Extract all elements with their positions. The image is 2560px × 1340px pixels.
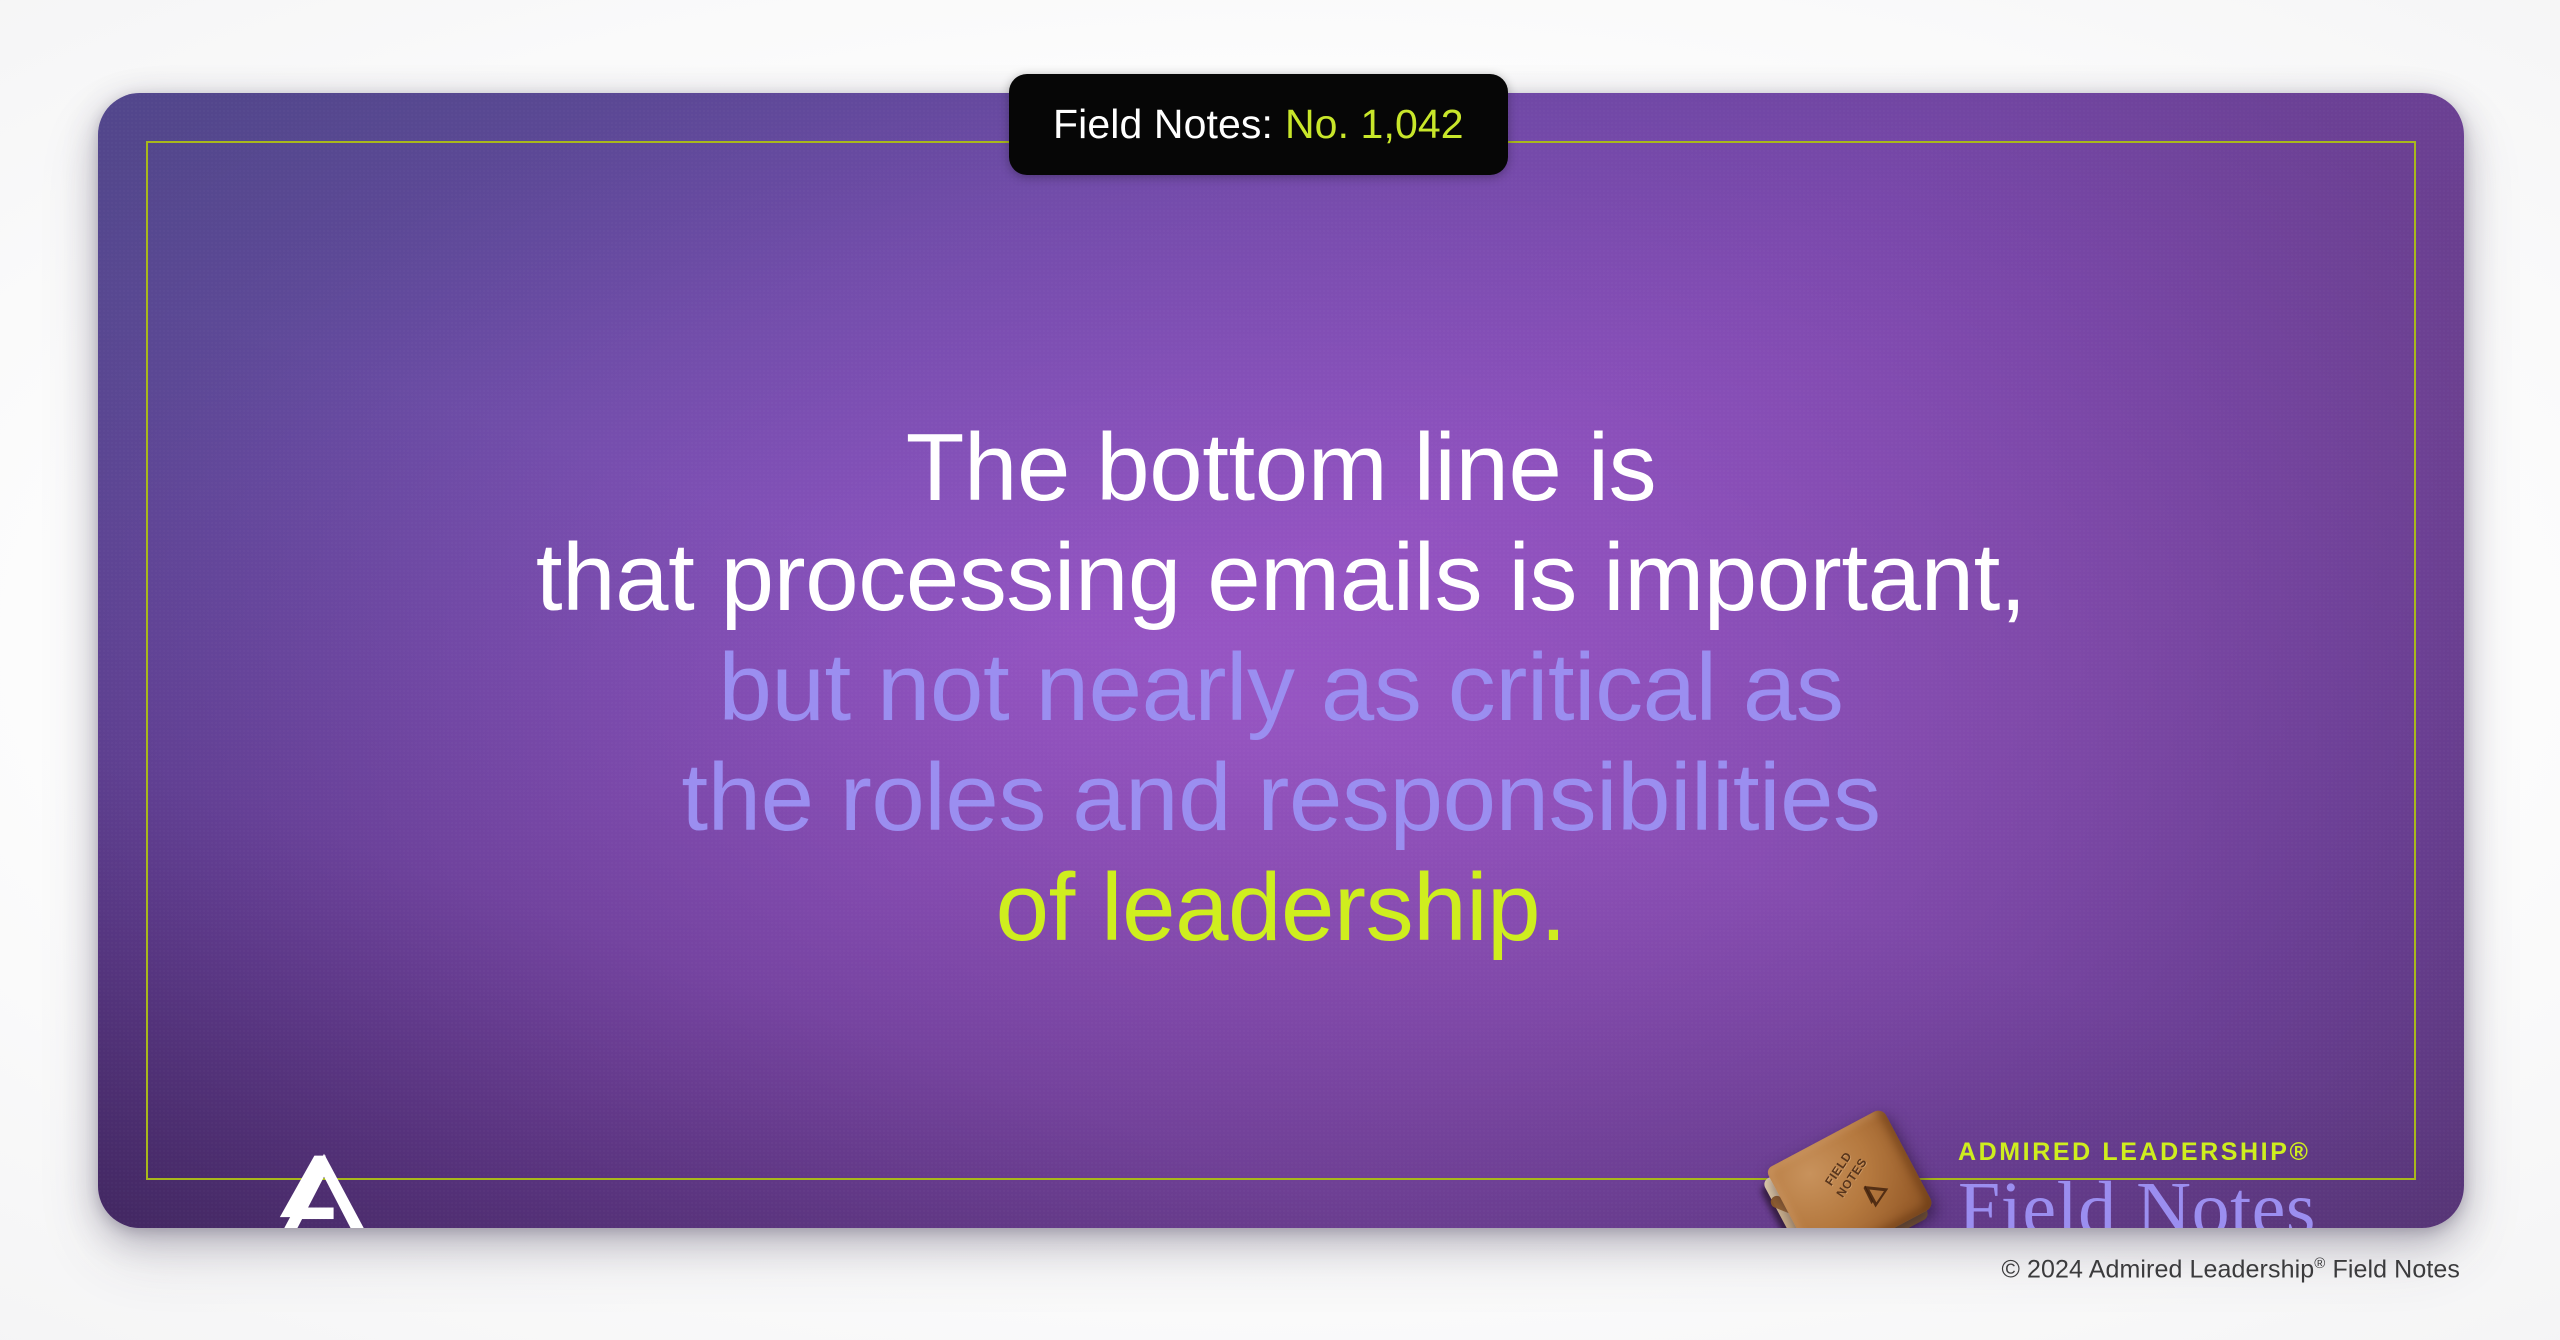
copyright-suffix: Field Notes — [2332, 1255, 2460, 1283]
journal-cover: FIELD NOTES — [1765, 1108, 1934, 1228]
lockup-text: ADMIRED LEADERSHIP® Field Notes — [1958, 1138, 2316, 1229]
copyright-notice: © 2024 Admired Leadership® Field Notes — [2001, 1255, 2460, 1284]
quote-line-3: but not nearly as critical as — [238, 633, 2324, 743]
admired-leadership-logo-icon — [276, 1148, 372, 1228]
quote-line-4: the roles and responsibilities — [238, 743, 2324, 853]
quote-block: The bottom line is that processing email… — [98, 413, 2464, 963]
journal-book-icon: FIELD NOTES — [1768, 1118, 1940, 1228]
badge-label: Field Notes: — [1053, 101, 1273, 148]
copyright-registered-mark: ® — [2314, 1255, 2325, 1272]
quote-card: The bottom line is that processing email… — [98, 93, 2464, 1228]
field-notes-lockup: FIELD NOTES ADMIRED LEADERSHIP® Field No… — [1768, 1113, 2316, 1228]
quote-line-5: of leadership. — [238, 853, 2324, 963]
lockup-eyebrow: ADMIRED LEADERSHIP® — [1958, 1138, 2316, 1167]
badge-number: No. 1,042 — [1285, 101, 1464, 148]
lockup-title: Field Notes — [1958, 1169, 2316, 1229]
copyright-prefix: © 2024 Admired Leadership — [2001, 1255, 2314, 1283]
quote-line-2: that processing emails is important, — [238, 523, 2324, 633]
page-background: The bottom line is that processing email… — [0, 0, 2560, 1340]
journal-emboss: FIELD NOTES — [1813, 1135, 1914, 1228]
journal-emboss-triangle-icon — [1854, 1172, 1892, 1211]
field-notes-number-badge: Field Notes: No. 1,042 — [1009, 74, 1508, 175]
quote-line-1: The bottom line is — [238, 413, 2324, 523]
